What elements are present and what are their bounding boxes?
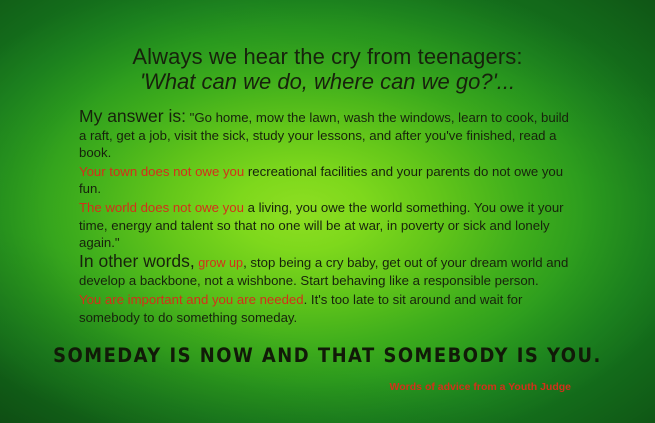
tagline-text: SOMEDAY IS NOW AND THAT SOMEBODY IS YOU. — [53, 345, 602, 367]
title-line-1: Always we hear the cry from teenagers: — [0, 44, 655, 69]
paragraph-your-town: Your town does not owe you recreational … — [79, 163, 579, 198]
poster-title: Always we hear the cry from teenagers: '… — [0, 44, 655, 94]
paragraph-you-are-important: You are important and you are needed. It… — [79, 291, 579, 326]
paragraph-the-world: The world does not owe you a living, you… — [79, 199, 579, 252]
poster-body: My answer is: "Go home, mow the lawn, wa… — [79, 108, 579, 327]
poster-tagline: SOMEDAY IS NOW AND THAT SOMEBODY IS YOU. — [26, 345, 629, 367]
poster-content: Always we hear the cry from teenagers: '… — [0, 0, 655, 423]
poster-image: Always we hear the cry from teenagers: '… — [0, 0, 655, 423]
paragraph-lead-my-answer: My answer is: — [79, 106, 186, 126]
paragraph-highlight-grow-up: grow up — [195, 256, 243, 270]
poster-attribution: Words of advice from a Youth Judge — [390, 381, 571, 394]
paragraph-lead-the-world: The world does not owe you — [79, 200, 244, 215]
title-line-2: 'What can we do, where can we go?'... — [0, 69, 655, 94]
paragraph-lead-in-other-words: In other words, — [79, 251, 195, 271]
paragraph-lead-your-town: Your town does not owe you — [79, 164, 244, 179]
paragraph-lead-you-are-important: You are important and you are needed — [79, 292, 304, 307]
paragraph-my-answer: My answer is: "Go home, mow the lawn, wa… — [79, 108, 579, 162]
paragraph-in-other-words: In other words, grow up, stop being a cr… — [79, 253, 579, 290]
